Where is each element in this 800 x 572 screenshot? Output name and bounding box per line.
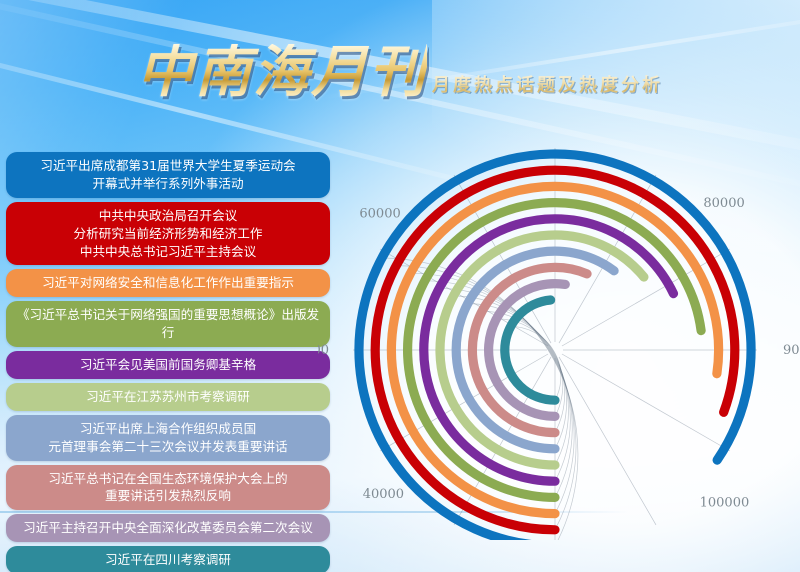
legend-item-label: 《习近平总书记关于网络强国的重要思想概论》出版发行 [16, 306, 320, 342]
page-subtitle: 月度热点话题及热度分析 [432, 71, 663, 97]
legend-item-label: 习近平在江苏苏州市考察调研 [86, 388, 250, 406]
legend-item-label: 习近平主持召开中央全面深化改革委员会第二次会议 [23, 519, 313, 537]
legend-item-label: 习近平出席成都第31届世界大学生夏季运动会 开幕式并举行系列外事活动 [40, 157, 295, 193]
legend-item-label: 习近平在四川考察调研 [105, 551, 231, 569]
radial-chart-svg: 400005000060000700008000090000100000 [318, 140, 800, 540]
axis-tick-label: 100000 [700, 496, 750, 511]
legend-item-label: 习近平会见美国前国务卿基辛格 [80, 356, 256, 374]
legend-item[interactable]: 习近平在江苏苏州市考察调研 [6, 383, 330, 411]
axis-tick-label: 80000 [703, 196, 744, 211]
legend-item[interactable]: 习近平主持召开中央全面深化改革委员会第二次会议 [6, 514, 330, 542]
axis-tick-label: 90000 [783, 343, 800, 358]
page-title: 中南海月刊 [137, 44, 427, 100]
axis-tick-label: 50000 [318, 343, 329, 358]
legend-item[interactable]: 习近平在四川考察调研 [6, 546, 330, 572]
legend-item-label: 习近平出席上海合作组织成员国 元首理事会第二十三次会议并发表重要讲话 [48, 420, 287, 456]
axis-tick-label: 40000 [363, 487, 404, 502]
grid-spoke [562, 354, 730, 451]
legend-item[interactable]: 习近平出席上海合作组织成员国 元首理事会第二十三次会议并发表重要讲话 [6, 415, 330, 461]
legend-item[interactable]: 《习近平总书记关于网络强国的重要思想概论》出版发行 [6, 301, 330, 347]
legend-item[interactable]: 习近平出席成都第31届世界大学生夏季运动会 开幕式并举行系列外事活动 [6, 152, 330, 198]
legend-item-label: 习近平对网络安全和信息化工作作出重要指示 [42, 274, 294, 292]
grid-spoke [559, 357, 656, 525]
legend-item[interactable]: 习近平总书记在全国生态环境保护大会上的 重要讲话引发热烈反响 [6, 465, 330, 511]
legend-item-label: 中共中央政治局召开会议 分析研究当前经济形势和经济工作 中共中央总书记习近平主持… [74, 207, 263, 261]
legend-item-label: 习近平总书记在全国生态环境保护大会上的 重要讲话引发热烈反响 [48, 470, 287, 506]
legend-item[interactable]: 习近平会见美国前国务卿基辛格 [6, 351, 330, 379]
header: 中南海月刊 月度热点话题及热度分析 [0, 44, 800, 100]
axis-tick-label: 60000 [359, 206, 400, 221]
legend-item[interactable]: 习近平对网络安全和信息化工作作出重要指示 [6, 269, 330, 297]
legend-item[interactable]: 中共中央政治局召开会议 分析研究当前经济形势和经济工作 中共中央总书记习近平主持… [6, 202, 330, 266]
radial-bar-chart: 400005000060000700008000090000100000 [318, 140, 800, 540]
legend: 习近平出席成都第31届世界大学生夏季运动会 开幕式并举行系列外事活动中共中央政治… [6, 152, 330, 572]
